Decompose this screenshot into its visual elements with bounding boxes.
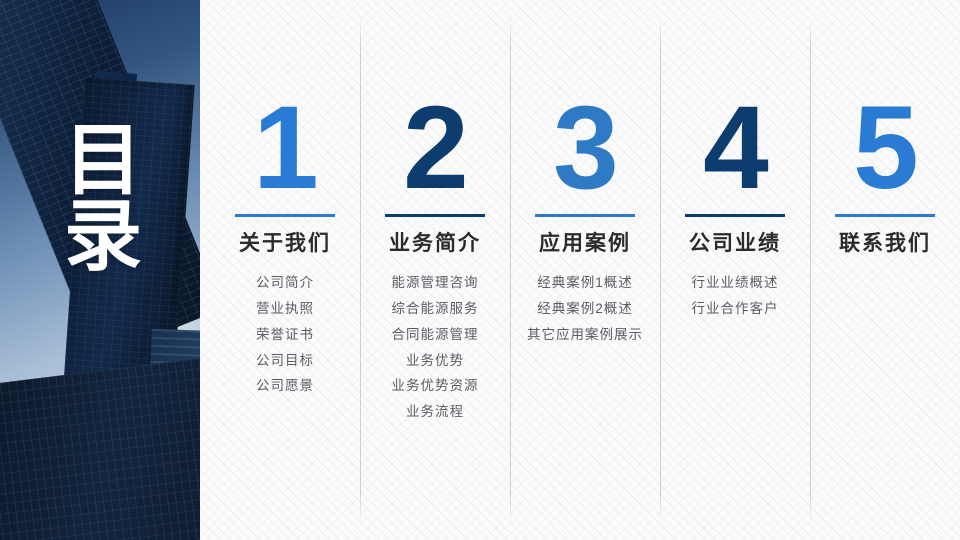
slide-canvas: 目 录 1 关于我们 公司简介 营业执照 荣誉证书 公司目标 公司愿景 2 业务…: [0, 0, 960, 540]
column-rule-3: [535, 214, 635, 217]
column-title-5[interactable]: 联系我们: [839, 233, 931, 254]
column-title-2[interactable]: 业务简介: [389, 233, 481, 254]
toc-title-char-1: 目: [48, 122, 158, 198]
toc-column-5[interactable]: 5 联系我们: [810, 0, 960, 540]
list-item[interactable]: 公司目标: [256, 354, 314, 369]
column-title-1[interactable]: 关于我们: [239, 233, 331, 254]
column-subitems-3: 经典案例1概述 经典案例2概述 其它应用案例展示: [527, 276, 643, 343]
list-item[interactable]: 合同能源管理: [392, 328, 479, 343]
column-rule-1: [235, 214, 335, 217]
list-item[interactable]: 行业合作客户: [692, 302, 779, 317]
toc-title-char-2: 录: [48, 198, 158, 274]
column-rule-2: [385, 214, 485, 217]
column-subitems-1: 公司简介 营业执照 荣誉证书 公司目标 公司愿景: [256, 276, 314, 394]
column-number-2: 2: [403, 86, 467, 210]
list-item[interactable]: 公司简介: [256, 276, 314, 291]
toc-title: 目 录: [48, 122, 158, 275]
list-item[interactable]: 其它应用案例展示: [527, 328, 643, 343]
toc-column-4[interactable]: 4 公司业绩 行业业绩概述 行业合作客户: [660, 0, 810, 540]
title-photo-panel: 目 录: [0, 0, 200, 540]
column-number-1: 1: [253, 86, 317, 210]
column-number-5: 5: [853, 86, 917, 210]
list-item[interactable]: 经典案例1概述: [537, 276, 633, 291]
column-title-3[interactable]: 应用案例: [539, 233, 631, 254]
column-number-3: 3: [553, 86, 617, 210]
toc-column-2[interactable]: 2 业务简介 能源管理咨询 综合能源服务 合同能源管理 业务优势 业务优势资源 …: [360, 0, 510, 540]
toc-column-1[interactable]: 1 关于我们 公司简介 营业执照 荣誉证书 公司目标 公司愿景: [210, 0, 360, 540]
list-item[interactable]: 业务优势: [406, 354, 464, 369]
column-subitems-4: 行业业绩概述 行业合作客户: [692, 276, 779, 317]
list-item[interactable]: 业务流程: [406, 405, 464, 420]
building-podium: [0, 354, 200, 540]
list-item[interactable]: 荣誉证书: [256, 328, 314, 343]
list-item[interactable]: 公司愿景: [256, 379, 314, 394]
toc-column-3[interactable]: 3 应用案例 经典案例1概述 经典案例2概述 其它应用案例展示: [510, 0, 660, 540]
column-rule-5: [835, 214, 935, 217]
column-title-4[interactable]: 公司业绩: [689, 233, 781, 254]
toc-columns: 1 关于我们 公司简介 营业执照 荣誉证书 公司目标 公司愿景 2 业务简介 能…: [210, 0, 960, 540]
list-item[interactable]: 营业执照: [256, 302, 314, 317]
list-item[interactable]: 综合能源服务: [392, 302, 479, 317]
list-item[interactable]: 业务优势资源: [392, 379, 479, 394]
list-item[interactable]: 能源管理咨询: [392, 276, 479, 291]
column-rule-4: [685, 214, 785, 217]
list-item[interactable]: 经典案例2概述: [537, 302, 633, 317]
column-subitems-2: 能源管理咨询 综合能源服务 合同能源管理 业务优势 业务优势资源 业务流程: [392, 276, 479, 420]
list-item[interactable]: 行业业绩概述: [692, 276, 779, 291]
column-number-4: 4: [703, 86, 767, 210]
